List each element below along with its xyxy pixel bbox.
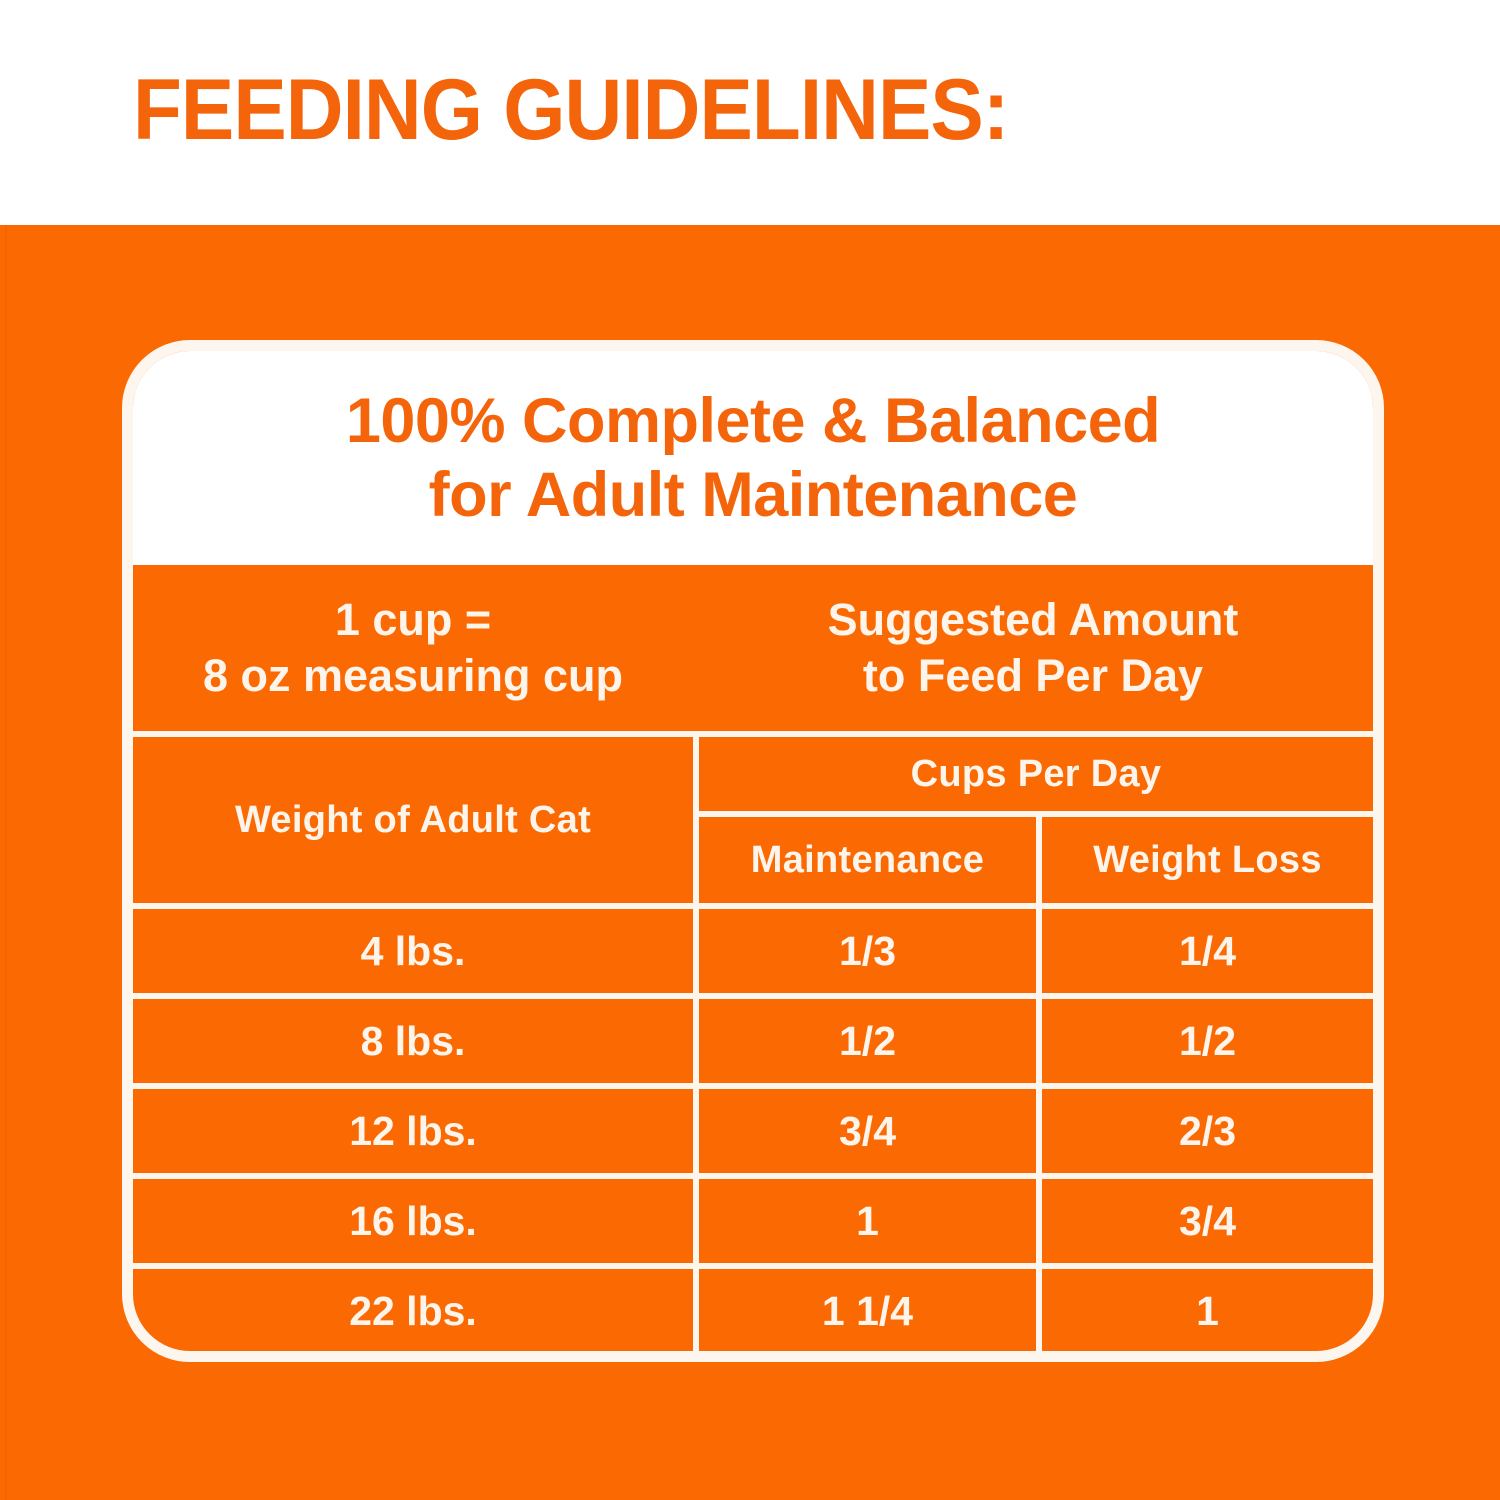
table-row: 16 lbs. 1 3/4 xyxy=(133,1179,1373,1263)
table-row: 12 lbs. 3/4 2/3 xyxy=(133,1089,1373,1173)
cell-maintenance: 1/3 xyxy=(699,909,1036,993)
header-cups-group: Cups Per Day Maintenance Weight Loss xyxy=(699,737,1373,903)
page-title: FEEDING GUIDELINES: xyxy=(133,62,1009,158)
cell-weight: 4 lbs. xyxy=(133,909,693,993)
header-weight-loss: Weight Loss xyxy=(1042,817,1373,903)
cell-weight: 8 lbs. xyxy=(133,999,693,1083)
table-row: 4 lbs. 1/3 1/4 xyxy=(133,909,1373,993)
cell-maintenance: 1/2 xyxy=(699,999,1036,1083)
cell-weight-loss: 1/4 xyxy=(1042,909,1373,993)
cup-line-2: 8 oz measuring cup xyxy=(203,648,623,704)
header-weight-of-adult-cat: Weight of Adult Cat xyxy=(133,737,693,903)
cup-line-1: 1 cup = xyxy=(203,592,623,648)
table-row: 25 lbs. 1 1/3 1 xyxy=(133,1359,1373,1362)
cell-weight-loss: 2/3 xyxy=(1042,1089,1373,1173)
cell-suggested-amount: Suggested Amount to Feed Per Day xyxy=(693,565,1373,731)
table-row: 8 lbs. 1/2 1/2 xyxy=(133,999,1373,1083)
card-heading-line-2: for Adult Maintenance xyxy=(429,458,1078,532)
suggested-line-1: Suggested Amount xyxy=(828,592,1239,648)
card-heading: 100% Complete & Balanced for Adult Maint… xyxy=(133,351,1373,565)
table-intro-row: 1 cup = 8 oz measuring cup Suggested Amo… xyxy=(133,565,1373,731)
suggested-line-2: to Feed Per Day xyxy=(828,648,1239,704)
card-heading-line-1: 100% Complete & Balanced xyxy=(346,384,1160,458)
feeding-guidelines-page: FEEDING GUIDELINES: 100% Complete & Bala… xyxy=(0,0,1500,1500)
header-maintenance: Maintenance xyxy=(699,817,1036,903)
left-edge-line xyxy=(5,225,7,1500)
cell-weight-loss: 1 xyxy=(1042,1359,1373,1362)
cell-weight: 16 lbs. xyxy=(133,1179,693,1263)
cell-weight: 22 lbs. xyxy=(133,1269,693,1353)
feeding-table: 1 cup = 8 oz measuring cup Suggested Amo… xyxy=(133,565,1373,1351)
page-banner: FEEDING GUIDELINES: xyxy=(0,0,1500,225)
cell-maintenance: 1 xyxy=(699,1179,1036,1263)
cell-weight-loss: 1 xyxy=(1042,1269,1373,1353)
header-subcolumns: Maintenance Weight Loss xyxy=(699,817,1373,903)
cell-maintenance: 3/4 xyxy=(699,1089,1036,1173)
guidelines-card: 100% Complete & Balanced for Adult Maint… xyxy=(122,340,1384,1362)
cell-weight-loss: 3/4 xyxy=(1042,1179,1373,1263)
table-row: 22 lbs. 1 1/4 1 xyxy=(133,1269,1373,1353)
cell-weight: 25 lbs. xyxy=(133,1359,693,1362)
header-cups-per-day: Cups Per Day xyxy=(699,737,1373,811)
cell-cup-equivalence: 1 cup = 8 oz measuring cup xyxy=(133,565,693,731)
cell-weight-loss: 1/2 xyxy=(1042,999,1373,1083)
cell-maintenance: 1 1/3 xyxy=(699,1359,1036,1362)
table-header-block: Weight of Adult Cat Cups Per Day Mainten… xyxy=(133,737,1373,903)
cell-maintenance: 1 1/4 xyxy=(699,1269,1036,1353)
cell-weight: 12 lbs. xyxy=(133,1089,693,1173)
